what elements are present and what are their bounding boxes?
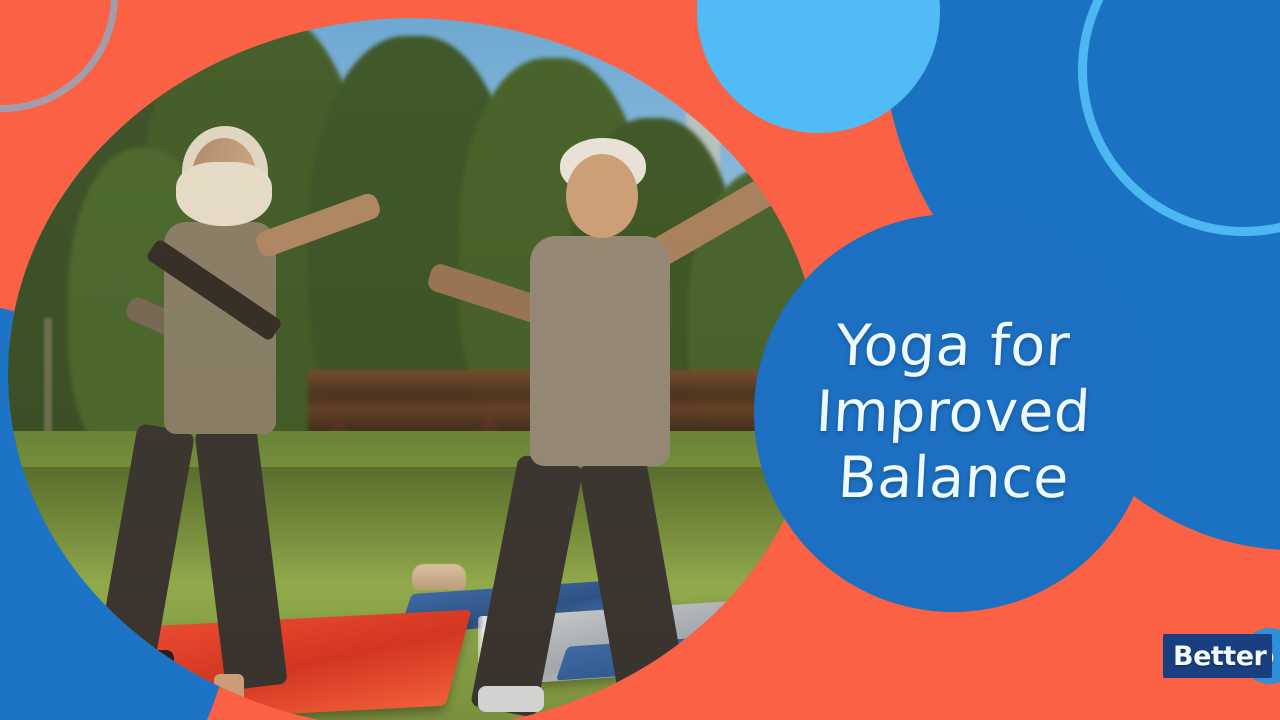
woman-hair-back [176, 162, 272, 226]
hero-photo [8, 18, 820, 720]
thumbnail-canvas: Yoga for Improved Balance 5 Better [0, 0, 1280, 720]
man-head [566, 154, 638, 238]
man-leg-left [470, 454, 584, 718]
man-torso [530, 236, 670, 466]
woman-leg-right [194, 423, 287, 691]
man-shoe-left [478, 686, 544, 712]
brand-logo[interactable]: Better [1163, 634, 1272, 678]
shoes [412, 564, 466, 590]
person-woman [98, 126, 398, 706]
brand-logo-plate: Better [1163, 634, 1272, 678]
photo-scene [8, 18, 820, 720]
brand-logo-word: Better [1173, 643, 1266, 670]
title-circle: Yoga for Improved Balance [754, 214, 1152, 612]
title-line-1: Yoga for [834, 315, 1071, 379]
title-line-3: Balance [836, 447, 1070, 511]
title-line-2: Improved [814, 381, 1092, 445]
woman-arm-right [254, 191, 383, 259]
